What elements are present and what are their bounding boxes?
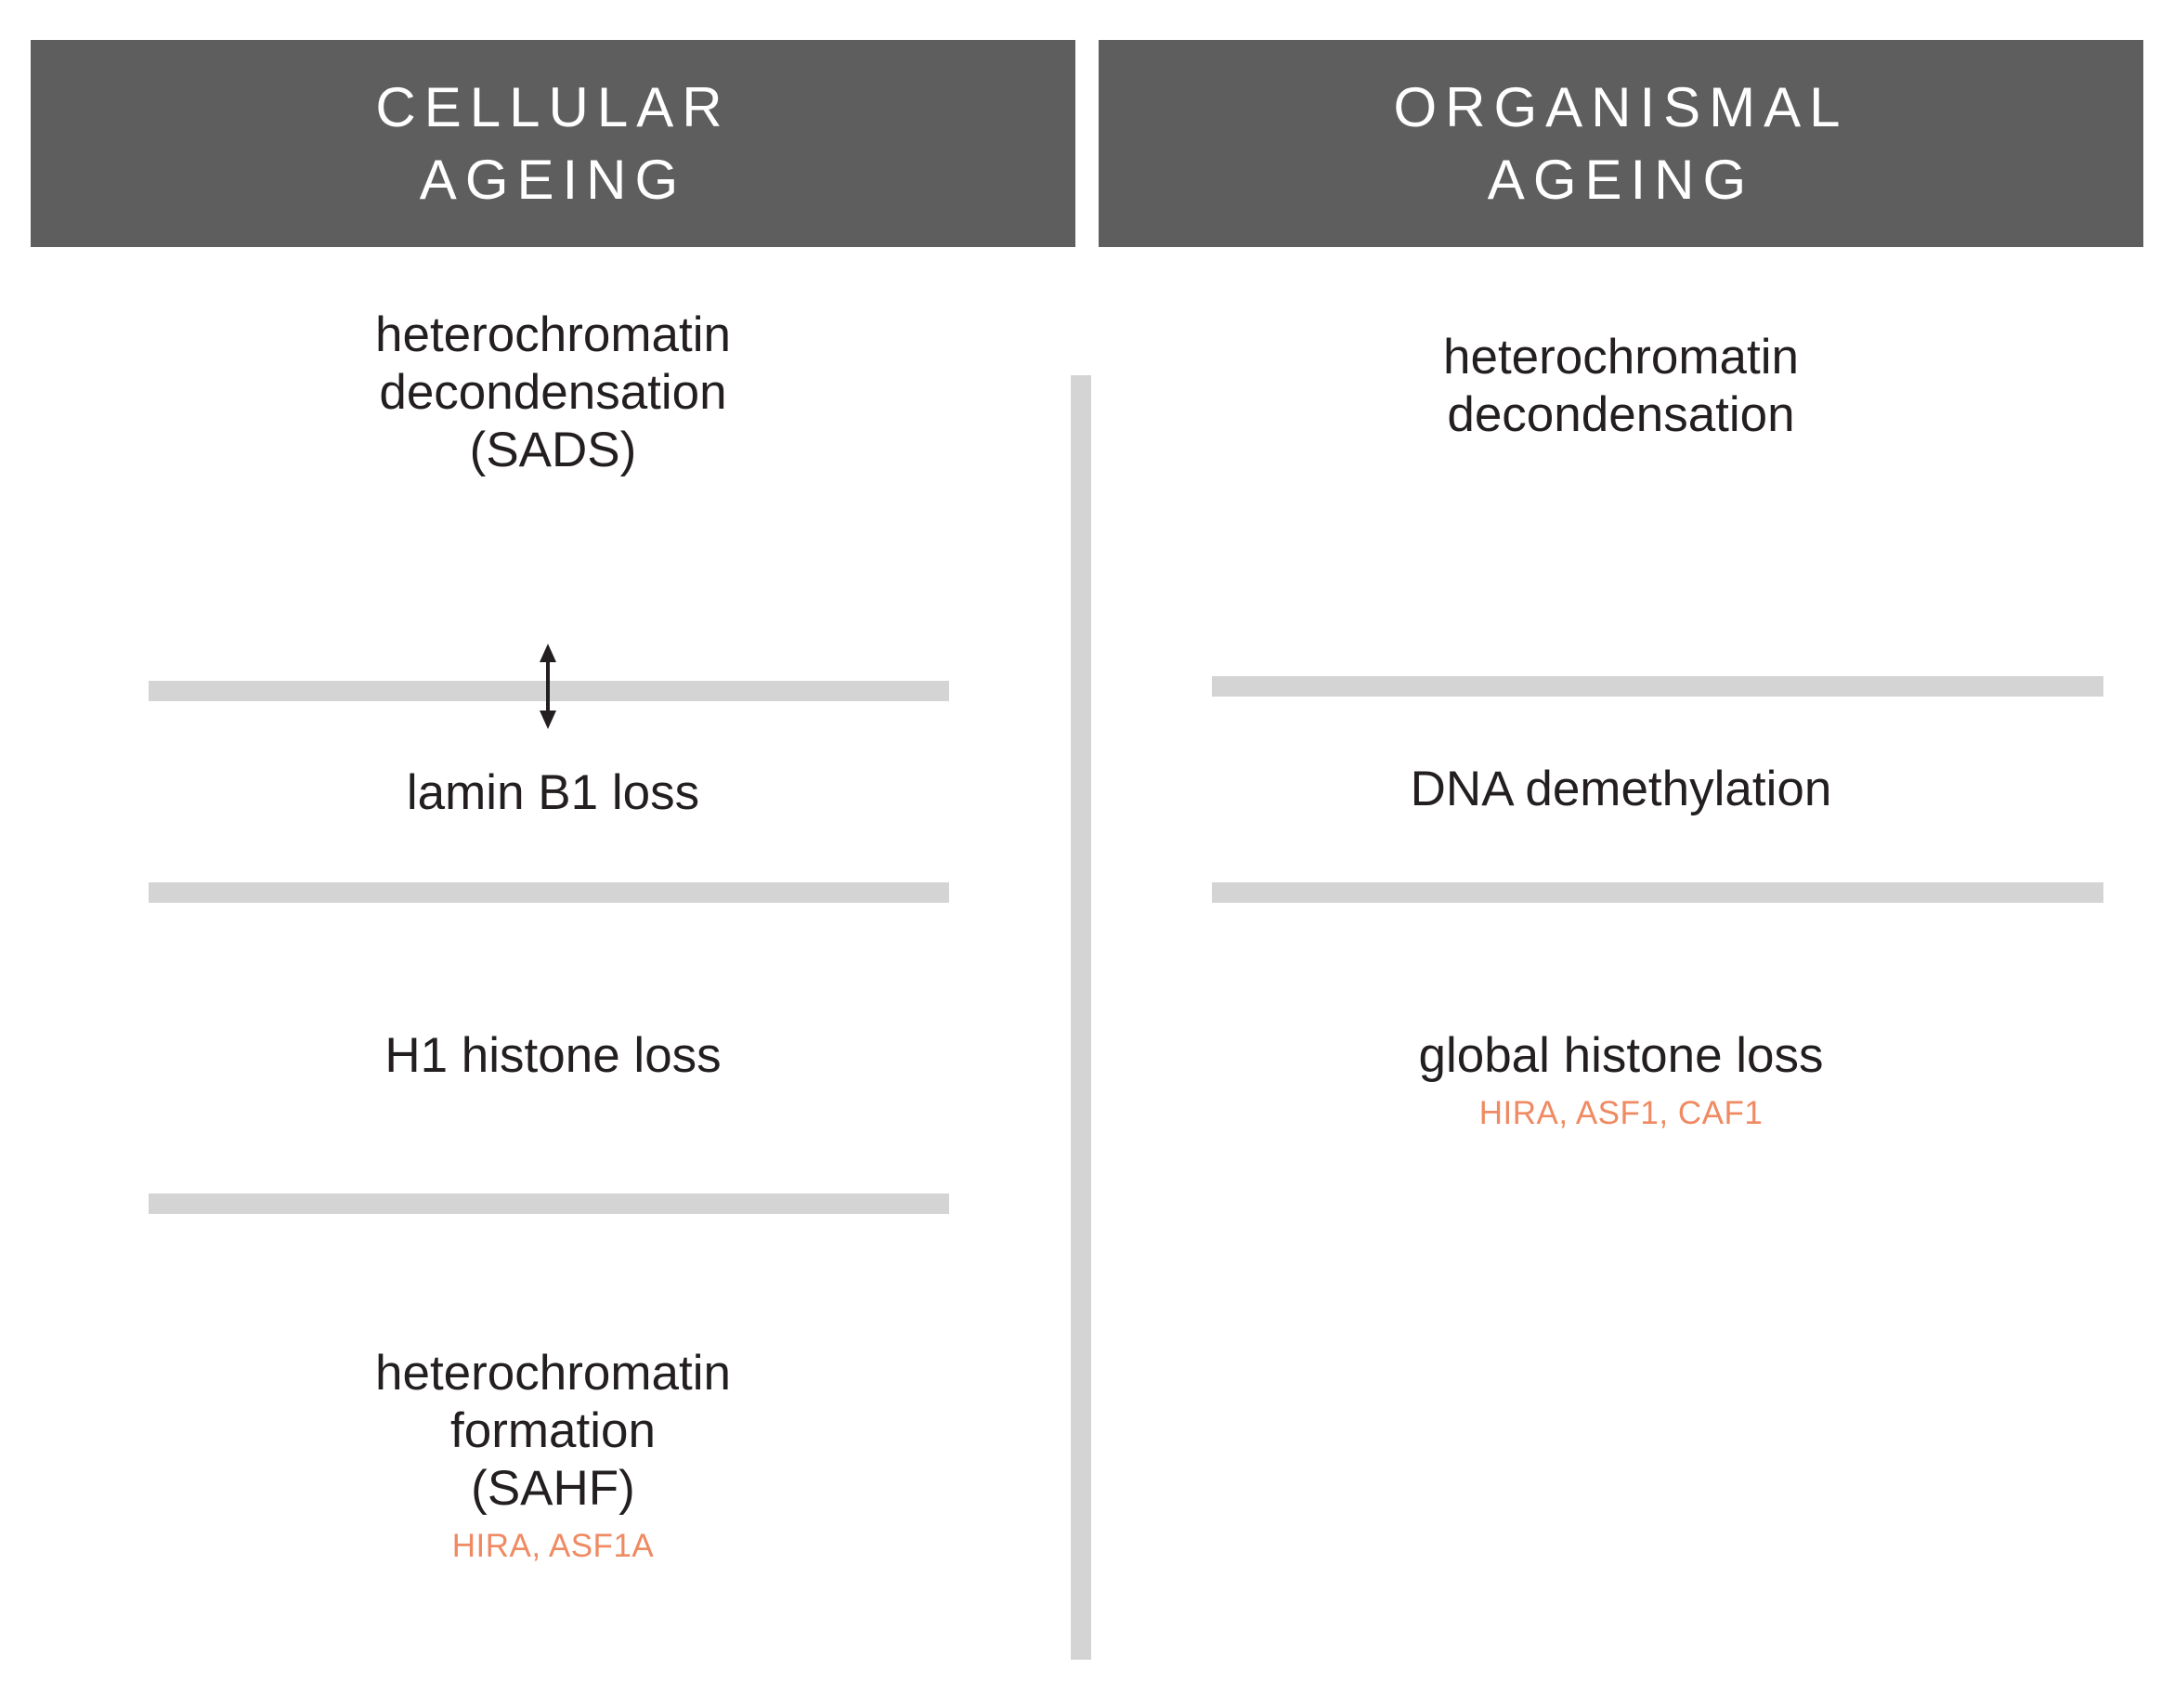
- cellular-ageing-body: heterochromatin decondensation (SADS) la…: [31, 247, 1075, 1675]
- entry-label: H1 histone loss: [31, 1027, 1075, 1085]
- entry-heterochromatin-decondensation: heterochromatin decondensation: [1099, 329, 2143, 444]
- entry-heterochromatin-decondensation-sads: heterochromatin decondensation (SADS): [31, 306, 1075, 479]
- bidirectional-arrow-icon: [527, 642, 568, 731]
- organismal-ageing-body: heterochromatin decondensation DNA demet…: [1099, 247, 2143, 1675]
- entry-dna-demethylation: DNA demethylation: [1099, 761, 2143, 818]
- cellular-ageing-header: CELLULAR AGEING: [31, 40, 1075, 247]
- entry-gene-list: HIRA, ASF1, CAF1: [1099, 1094, 2143, 1133]
- ageing-chromatin-comparison-figure: CELLULAR AGEING heterochromatin deconden…: [0, 0, 2174, 1708]
- entry-heterochromatin-formation-sahf: heterochromatin formation (SAHF) HIRA, A…: [31, 1345, 1075, 1566]
- entry-label: global histone loss: [1099, 1027, 2143, 1085]
- organismal-ageing-header: ORGANISMAL AGEING: [1099, 40, 2143, 247]
- entry-label: heterochromatin decondensation (SADS): [31, 306, 1075, 479]
- entry-label: heterochromatin decondensation: [1099, 329, 2143, 444]
- entry-gene-list: HIRA, ASF1A: [31, 1527, 1075, 1566]
- column-organismal-ageing: ORGANISMAL AGEING heterochromatin decond…: [1099, 40, 2143, 1675]
- entry-lamin-b1-loss: lamin B1 loss: [31, 764, 1075, 822]
- separator-bar-2: [149, 882, 949, 903]
- entry-global-histone-loss: global histone loss HIRA, ASF1, CAF1: [1099, 1027, 2143, 1133]
- entry-label: DNA demethylation: [1099, 761, 2143, 818]
- entry-label: lamin B1 loss: [31, 764, 1075, 822]
- separator-bar-2: [1212, 882, 2103, 903]
- cellular-ageing-header-line2: AGEING: [420, 144, 686, 216]
- separator-bar-1: [1212, 676, 2103, 697]
- separator-bar-3: [149, 1193, 949, 1214]
- entry-h1-histone-loss: H1 histone loss: [31, 1027, 1075, 1085]
- organismal-ageing-header-line2: AGEING: [1488, 144, 1754, 216]
- cellular-ageing-header-line1: CELLULAR: [375, 72, 730, 144]
- organismal-ageing-header-line1: ORGANISMAL: [1393, 72, 1848, 144]
- column-cellular-ageing: CELLULAR AGEING heterochromatin deconden…: [31, 40, 1075, 1675]
- entry-label: heterochromatin formation (SAHF): [31, 1345, 1075, 1518]
